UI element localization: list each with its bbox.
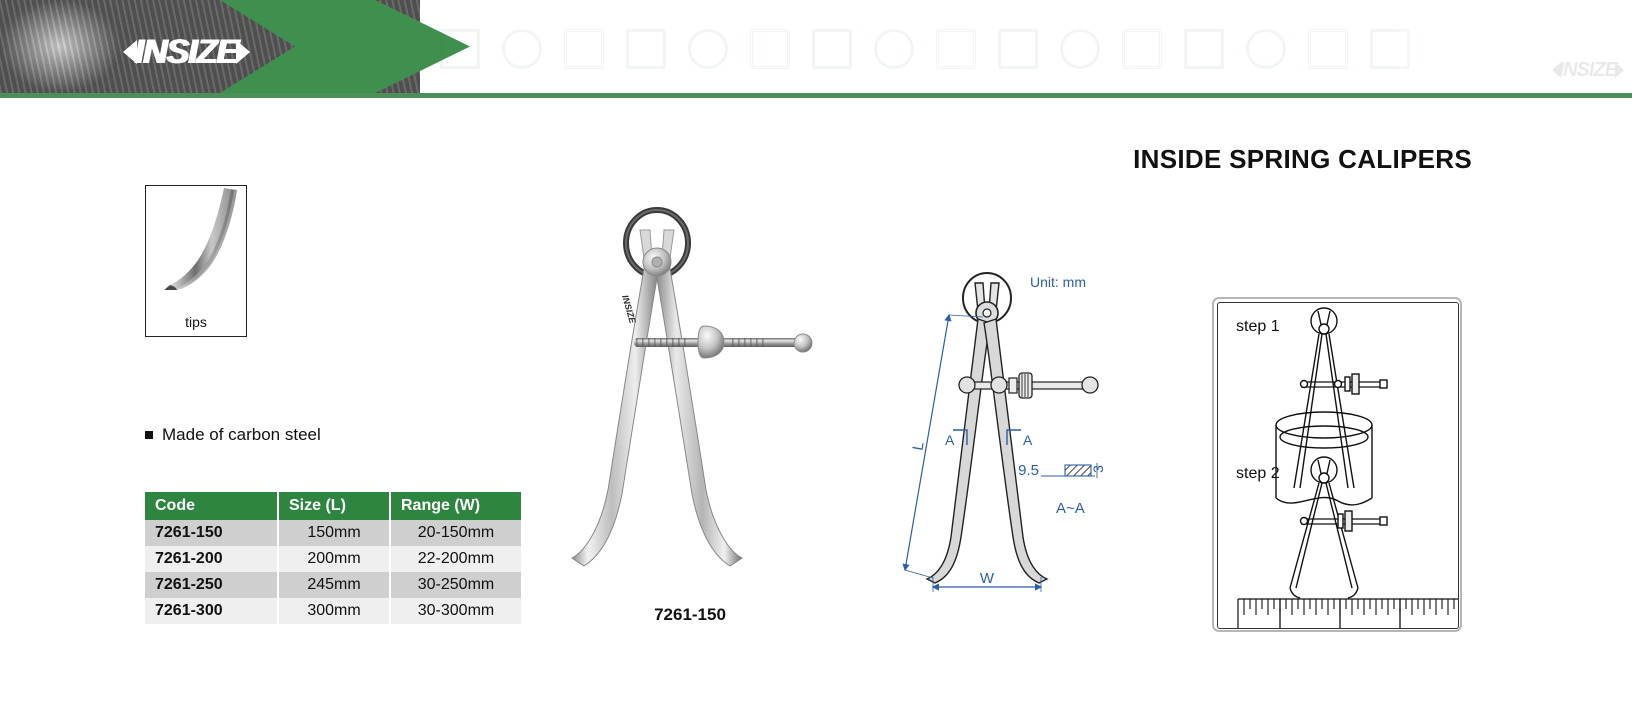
svg-text:INSIZE: INSIZE bbox=[620, 294, 638, 326]
feature-carbon-steel: Made of carbon steel bbox=[145, 425, 321, 445]
cell-code: 7261-300 bbox=[145, 598, 278, 624]
page-title: INSIDE SPRING CALIPERS bbox=[1133, 144, 1472, 175]
watermark-glyph bbox=[564, 29, 604, 69]
cell-range: 22-200mm bbox=[390, 546, 521, 572]
specification-table: Code Size (L) Range (W) 7261-150 150mm 2… bbox=[145, 492, 521, 624]
feature-text: Made of carbon steel bbox=[162, 425, 321, 445]
cell-code: 7261-200 bbox=[145, 546, 278, 572]
watermark-logo-text: INSIZE bbox=[1559, 60, 1617, 80]
cell-size: 150mm bbox=[278, 520, 390, 546]
section-thickness-text: 3 bbox=[1090, 465, 1106, 473]
insize-logo-text: INSIZE bbox=[135, 35, 239, 69]
table-header-row: Code Size (L) Range (W) bbox=[145, 492, 521, 520]
cell-size: 200mm bbox=[278, 546, 390, 572]
section-mark-right-text: A bbox=[1023, 432, 1033, 448]
watermark-glyph bbox=[1246, 29, 1286, 69]
watermark-glyph bbox=[626, 29, 666, 69]
bullet-square-icon bbox=[145, 431, 153, 439]
watermark-glyph bbox=[688, 29, 728, 69]
table-row: 7261-300 300mm 30-300mm bbox=[145, 598, 521, 624]
cell-range: 30-250mm bbox=[390, 572, 521, 598]
column-header-size: Size (L) bbox=[278, 492, 390, 520]
product-photo: INSIZE bbox=[560, 200, 820, 580]
watermark-glyph bbox=[998, 29, 1038, 69]
usage-steps-box: step 1 step 2 bbox=[1212, 297, 1462, 632]
watermark-glyph bbox=[812, 29, 852, 69]
cell-size: 245mm bbox=[278, 572, 390, 598]
cell-range: 30-300mm bbox=[390, 598, 521, 624]
insize-watermark-logo: INSIZE bbox=[1552, 60, 1624, 80]
tips-photo bbox=[146, 186, 246, 304]
logo-right-arrow-icon bbox=[236, 40, 250, 64]
column-header-range: Range (W) bbox=[390, 492, 521, 520]
watermark-glyph bbox=[1122, 29, 1162, 69]
column-header-code: Code bbox=[145, 492, 278, 520]
section-width-text: 9.5 bbox=[1018, 462, 1039, 479]
cell-size: 300mm bbox=[278, 598, 390, 624]
usage-steps-inner: step 1 step 2 bbox=[1217, 302, 1459, 629]
dim-W-text: W bbox=[980, 570, 995, 587]
table-row: 7261-200 200mm 22-200mm bbox=[145, 546, 521, 572]
header-bottom-rule bbox=[0, 93, 1632, 98]
watermark-glyph bbox=[1060, 29, 1100, 69]
watermark-glyph bbox=[750, 29, 790, 69]
tips-label: tips bbox=[146, 314, 246, 330]
cell-code: 7261-150 bbox=[145, 520, 278, 546]
product-caption: 7261-150 bbox=[560, 605, 820, 625]
cell-code: 7261-250 bbox=[145, 572, 278, 598]
watermark-glyph bbox=[1370, 29, 1410, 69]
table-row: 7261-150 150mm 20-150mm bbox=[145, 520, 521, 546]
cell-range: 20-150mm bbox=[390, 520, 521, 546]
watermark-glyph bbox=[874, 29, 914, 69]
watermark-glyph bbox=[502, 29, 542, 69]
section-mark-left-text: A bbox=[945, 432, 955, 448]
page-header: INSIZE INSIZE bbox=[0, 0, 1632, 98]
dim-L-text: L bbox=[909, 441, 927, 452]
tips-photo-box: tips bbox=[145, 185, 247, 337]
header-watermark-pattern bbox=[440, 26, 1440, 72]
watermark-glyph bbox=[936, 29, 976, 69]
watermark-glyph bbox=[1184, 29, 1224, 69]
watermark-glyph bbox=[440, 29, 480, 69]
watermark-glyph bbox=[1308, 29, 1348, 69]
table-row: 7261-250 245mm 30-250mm bbox=[145, 572, 521, 598]
technical-dimension-drawing: L W A A 9.5 3 bbox=[895, 265, 1135, 595]
insize-logo: INSIZE bbox=[84, 32, 289, 72]
